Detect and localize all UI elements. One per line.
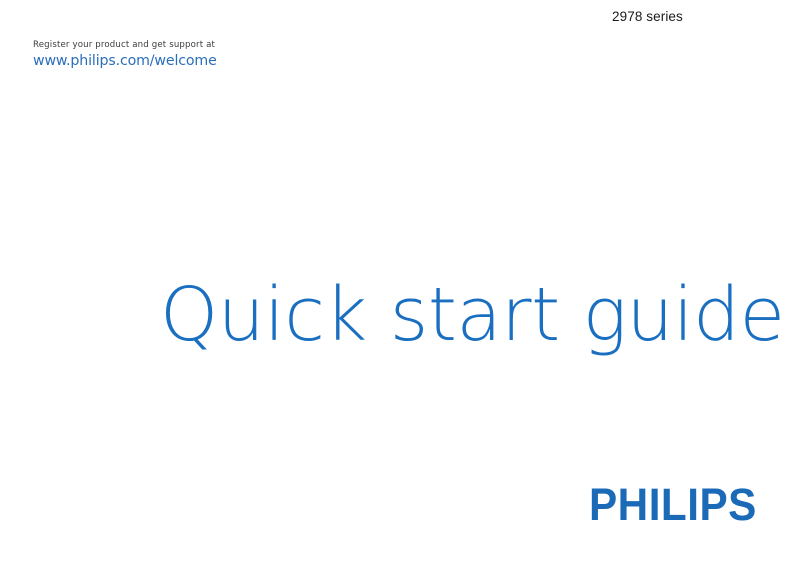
register-prompt-text: Register your product and get support at bbox=[33, 39, 217, 51]
page-title: Quick start guide bbox=[160, 276, 785, 354]
series-label: 2978 series bbox=[612, 9, 683, 24]
philips-logo: PHILIPS bbox=[589, 482, 757, 527]
cover-page: 2978 series Register your product and ge… bbox=[0, 0, 802, 566]
register-url-link[interactable]: www.philips.com/welcome bbox=[33, 53, 217, 70]
register-block: Register your product and get support at… bbox=[33, 39, 217, 70]
